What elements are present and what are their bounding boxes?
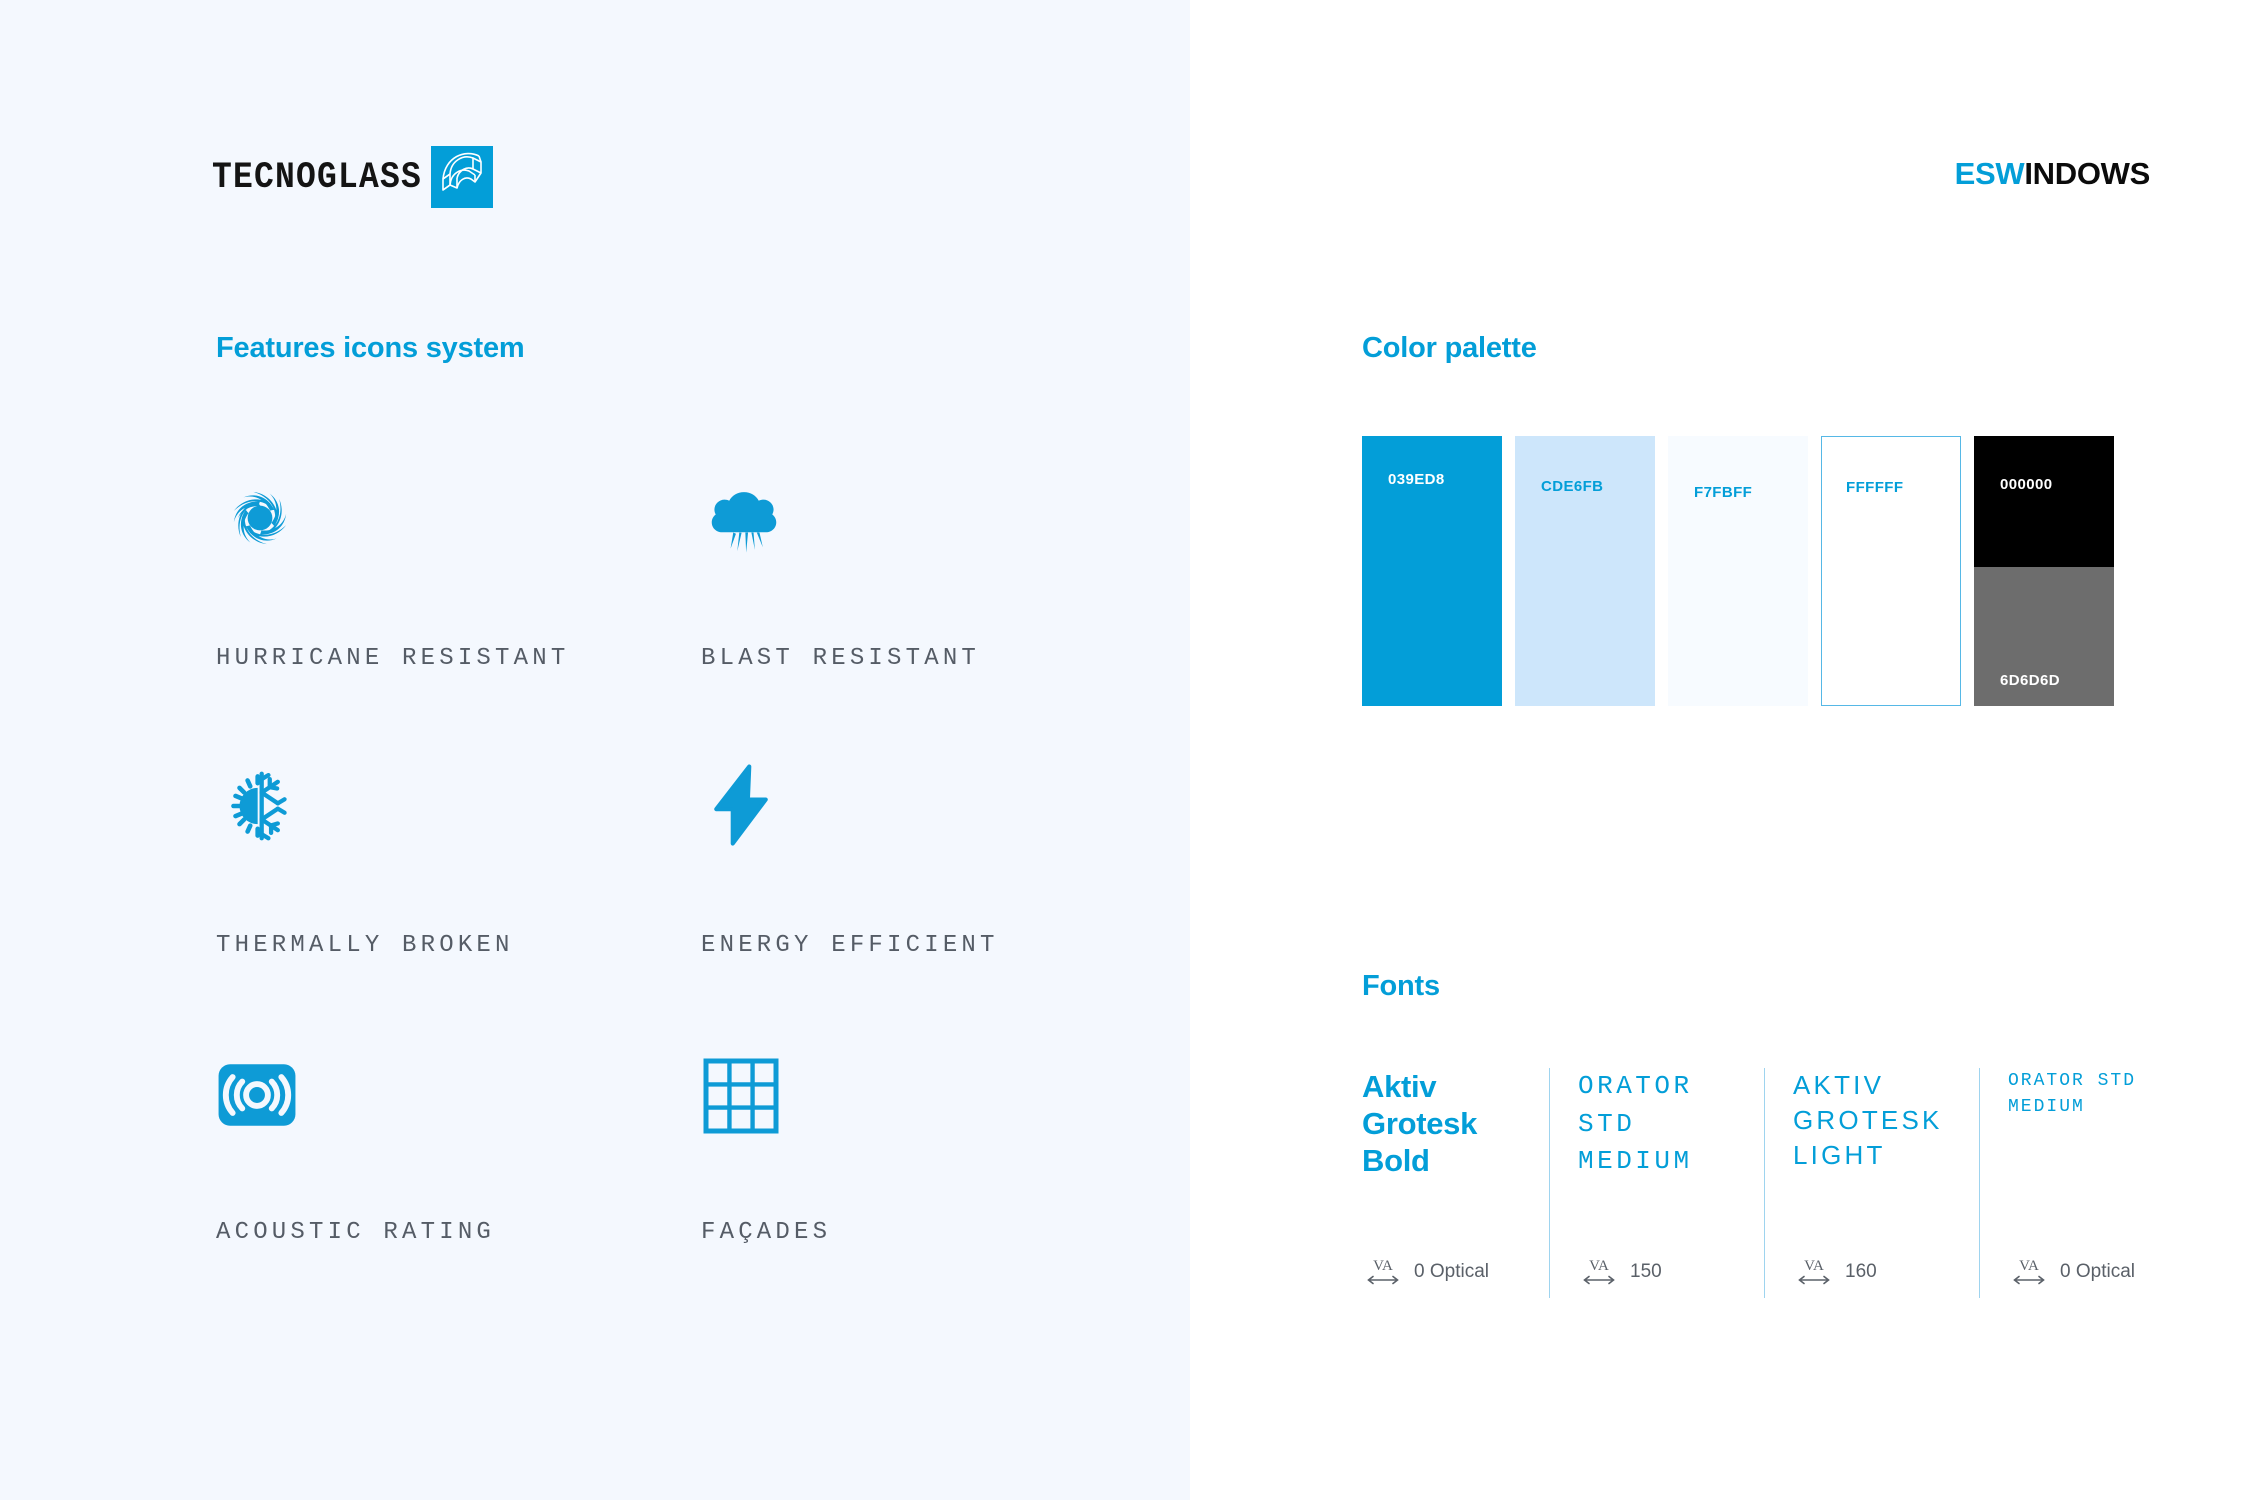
feature-label: ENERGY EFFICIENT bbox=[701, 932, 999, 959]
font-specimen-aktiv-grotesk-bold: Aktiv Grotesk Bold VA bbox=[1362, 1068, 1550, 1298]
eswindows-prefix: ESW bbox=[1955, 156, 2025, 191]
right-panel: ESWINDOWS Color palette 039ED8 CDE6FB F7… bbox=[1190, 0, 2250, 1500]
arch-3d-icon bbox=[431, 146, 493, 208]
font-specimen-orator-std-medium-optical: ORATOR STD MEDIUM VA bbox=[1980, 1068, 2195, 1298]
font-name-line: ORATOR bbox=[1578, 1068, 1736, 1106]
facade-grid-icon bbox=[701, 1044, 1186, 1136]
swatch-hex-label: 6D6D6D bbox=[2000, 672, 2060, 689]
feature-label: ACOUSTIC RATING bbox=[216, 1219, 495, 1246]
tracking-va-icon: VA bbox=[2008, 1254, 2050, 1290]
color-swatch-CDE6FB: CDE6FB bbox=[1515, 436, 1655, 706]
tracking-value: 0 Optical bbox=[2060, 1261, 2135, 1283]
swatch-hex-label: FFFFFF bbox=[1846, 479, 1903, 496]
font-name-line: MEDIUM bbox=[2008, 1094, 2167, 1120]
thermal-icon bbox=[216, 757, 701, 849]
feature-item-facades: FAÇADES bbox=[701, 1044, 1186, 1331]
acoustic-icon bbox=[216, 1044, 701, 1136]
feature-label: BLAST RESISTANT bbox=[701, 645, 980, 672]
lightning-icon bbox=[701, 757, 1186, 849]
swatch-hex-label: F7FBFF bbox=[1694, 484, 1752, 501]
font-name-line: Aktiv bbox=[1362, 1068, 1521, 1105]
svg-text:VA: VA bbox=[2019, 1258, 2039, 1274]
fonts-section-title: Fonts bbox=[1362, 970, 1440, 1003]
tracking-value: 160 bbox=[1845, 1261, 1877, 1283]
font-name-line: MEDIUM bbox=[1578, 1143, 1736, 1181]
tracking-va-icon: VA bbox=[1362, 1254, 1404, 1290]
tecnoglass-logo: TECNOGLASS bbox=[212, 146, 493, 208]
color-swatch-row: 039ED8 CDE6FB F7FBFF FFFFFF 000000 6D6D6… bbox=[1362, 436, 2114, 706]
color-swatch-039ED8: 039ED8 bbox=[1362, 436, 1502, 706]
font-name-line: AKTIV bbox=[1793, 1068, 1951, 1103]
color-swatch-FFFFFF: FFFFFF bbox=[1821, 436, 1961, 706]
swatch-black-half bbox=[1974, 436, 2114, 567]
feature-item-energy-efficient: ENERGY EFFICIENT bbox=[701, 757, 1186, 1044]
brand-guidelines-page: TECNOGLASS bbox=[0, 0, 2250, 1500]
font-specimen-aktiv-grotesk-light: AKTIV GROTESK LIGHT VA bbox=[1765, 1068, 1980, 1298]
font-name-line: Bold bbox=[1362, 1142, 1521, 1179]
font-name-line: GROTESK bbox=[1793, 1103, 1951, 1138]
swatch-hex-label: CDE6FB bbox=[1541, 478, 1603, 495]
palette-section-title: Color palette bbox=[1362, 332, 1537, 365]
tracking-spec: VA 150 bbox=[1578, 1254, 1662, 1290]
eswindows-suffix: INDOWS bbox=[2024, 156, 2150, 191]
font-name-line: Grotesk bbox=[1362, 1105, 1521, 1142]
swatch-hex-label: 000000 bbox=[2000, 476, 2052, 493]
tracking-spec: VA 160 bbox=[1793, 1254, 1877, 1290]
svg-text:VA: VA bbox=[1804, 1258, 1824, 1274]
feature-item-thermally-broken: THERMALLY BROKEN bbox=[216, 757, 701, 1044]
tracking-value: 150 bbox=[1630, 1261, 1662, 1283]
font-name-line: ORATOR STD bbox=[2008, 1068, 2167, 1094]
tracking-va-icon: VA bbox=[1793, 1254, 1835, 1290]
tracking-value: 0 Optical bbox=[1414, 1261, 1489, 1283]
feature-item-acoustic-rating: ACOUSTIC RATING bbox=[216, 1044, 701, 1331]
tecnoglass-wordmark: TECNOGLASS bbox=[212, 159, 422, 196]
eswindows-logo: ESWINDOWS bbox=[1955, 158, 2150, 189]
feature-label: FAÇADES bbox=[701, 1219, 831, 1246]
left-panel: TECNOGLASS bbox=[0, 0, 1190, 1500]
svg-text:VA: VA bbox=[1589, 1258, 1609, 1274]
features-section-title: Features icons system bbox=[216, 332, 525, 365]
fonts-specimen-row: Aktiv Grotesk Bold VA bbox=[1362, 1068, 2195, 1298]
blast-icon bbox=[701, 470, 1186, 562]
tracking-spec: VA 0 Optical bbox=[2008, 1254, 2135, 1290]
feature-item-blast: BLAST RESISTANT bbox=[701, 470, 1186, 757]
tracking-va-icon: VA bbox=[1578, 1254, 1620, 1290]
swatch-hex-label: 039ED8 bbox=[1388, 471, 1445, 488]
tracking-spec: VA 0 Optical bbox=[1362, 1254, 1489, 1290]
font-specimen-orator-std-medium-150: ORATOR STD MEDIUM VA bbox=[1550, 1068, 1765, 1298]
hurricane-icon bbox=[216, 470, 701, 562]
svg-text:VA: VA bbox=[1373, 1258, 1393, 1274]
feature-label: THERMALLY BROKEN bbox=[216, 932, 514, 959]
font-name-line: STD bbox=[1578, 1106, 1736, 1144]
features-icon-grid: HURRICANE RESISTANT bbox=[216, 470, 1036, 1331]
feature-label: HURRICANE RESISTANT bbox=[216, 645, 569, 672]
color-swatch-black-gray: 000000 6D6D6D bbox=[1974, 436, 2114, 706]
color-swatch-F7FBFF: F7FBFF bbox=[1668, 436, 1808, 706]
feature-item-hurricane: HURRICANE RESISTANT bbox=[216, 470, 701, 757]
font-name-line: LIGHT bbox=[1793, 1138, 1951, 1173]
